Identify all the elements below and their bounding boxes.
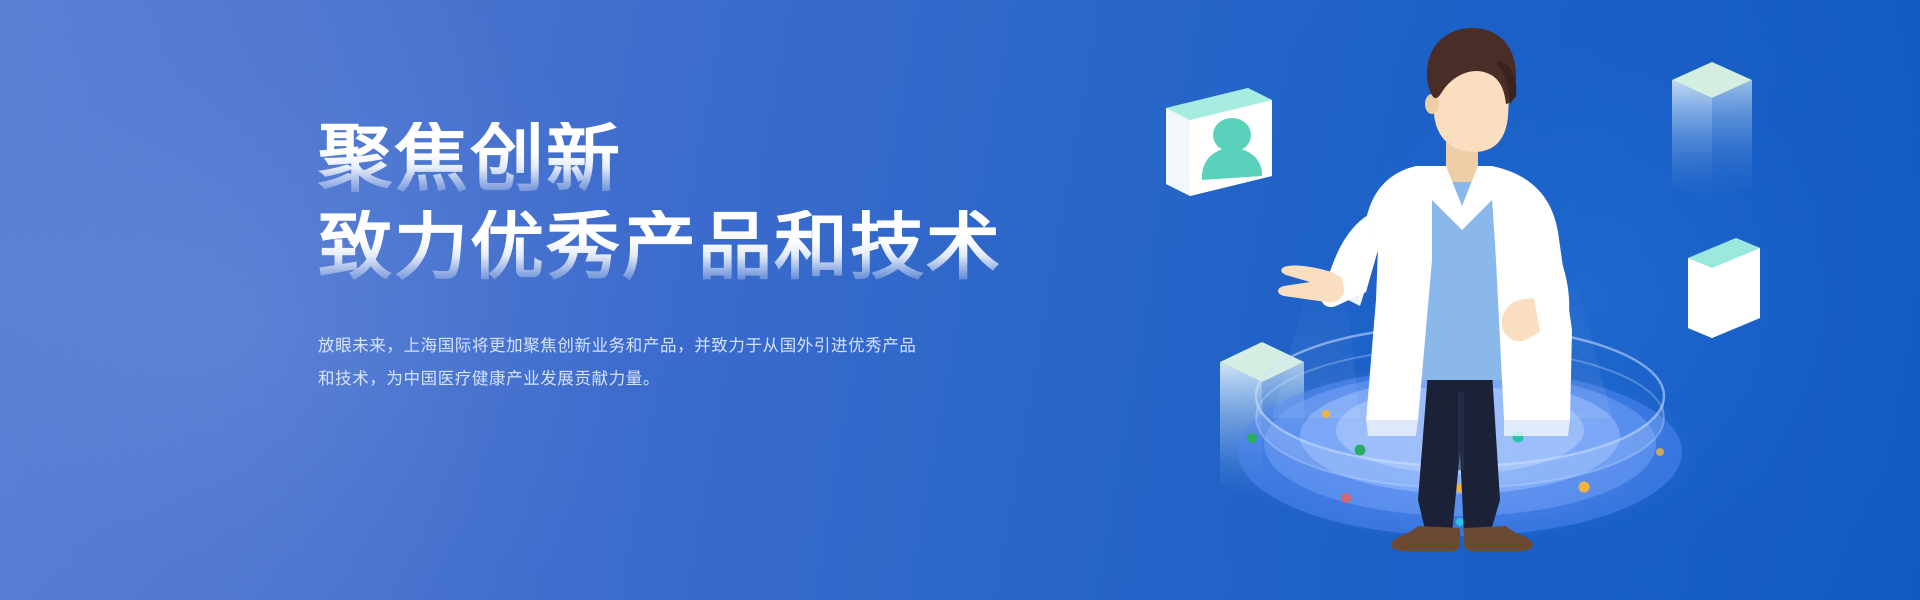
background-glow-right xyxy=(1140,0,1920,600)
subtitle-line-1: 放眼未来，上海国际将更加聚焦创新业务和产品，并致力于从国外引进优秀产品 xyxy=(318,330,938,363)
holographic-platform xyxy=(1220,280,1700,544)
user-avatar-card xyxy=(1166,88,1272,196)
light-streaks xyxy=(1303,356,1622,490)
floating-bar-short xyxy=(1220,342,1304,500)
user-icon xyxy=(1202,118,1262,180)
banner-subtitle: 放眼未来，上海国际将更加聚焦创新业务和产品，并致力于从国外引进优秀产品 和技术，… xyxy=(318,330,938,396)
headline-line-2: 致力优秀产品和技术 xyxy=(318,210,1078,284)
floating-white-card xyxy=(1688,238,1760,338)
hero-illustration xyxy=(1060,0,1920,600)
hero-banner: 聚焦创新 致力优秀产品和技术 放眼未来，上海国际将更加聚焦创新业务和产品，并致力… xyxy=(0,0,1920,600)
headline-line-1: 聚焦创新 xyxy=(318,122,1078,196)
particle-dots xyxy=(1247,410,1664,526)
floating-bar-tall xyxy=(1672,62,1752,200)
subtitle-line-2: 和技术，为中国医疗健康产业发展贡献力量。 xyxy=(318,363,938,396)
doctor-figure xyxy=(1278,28,1572,551)
banner-copy: 聚焦创新 致力优秀产品和技术 放眼未来，上海国际将更加聚焦创新业务和产品，并致力… xyxy=(318,122,1078,396)
